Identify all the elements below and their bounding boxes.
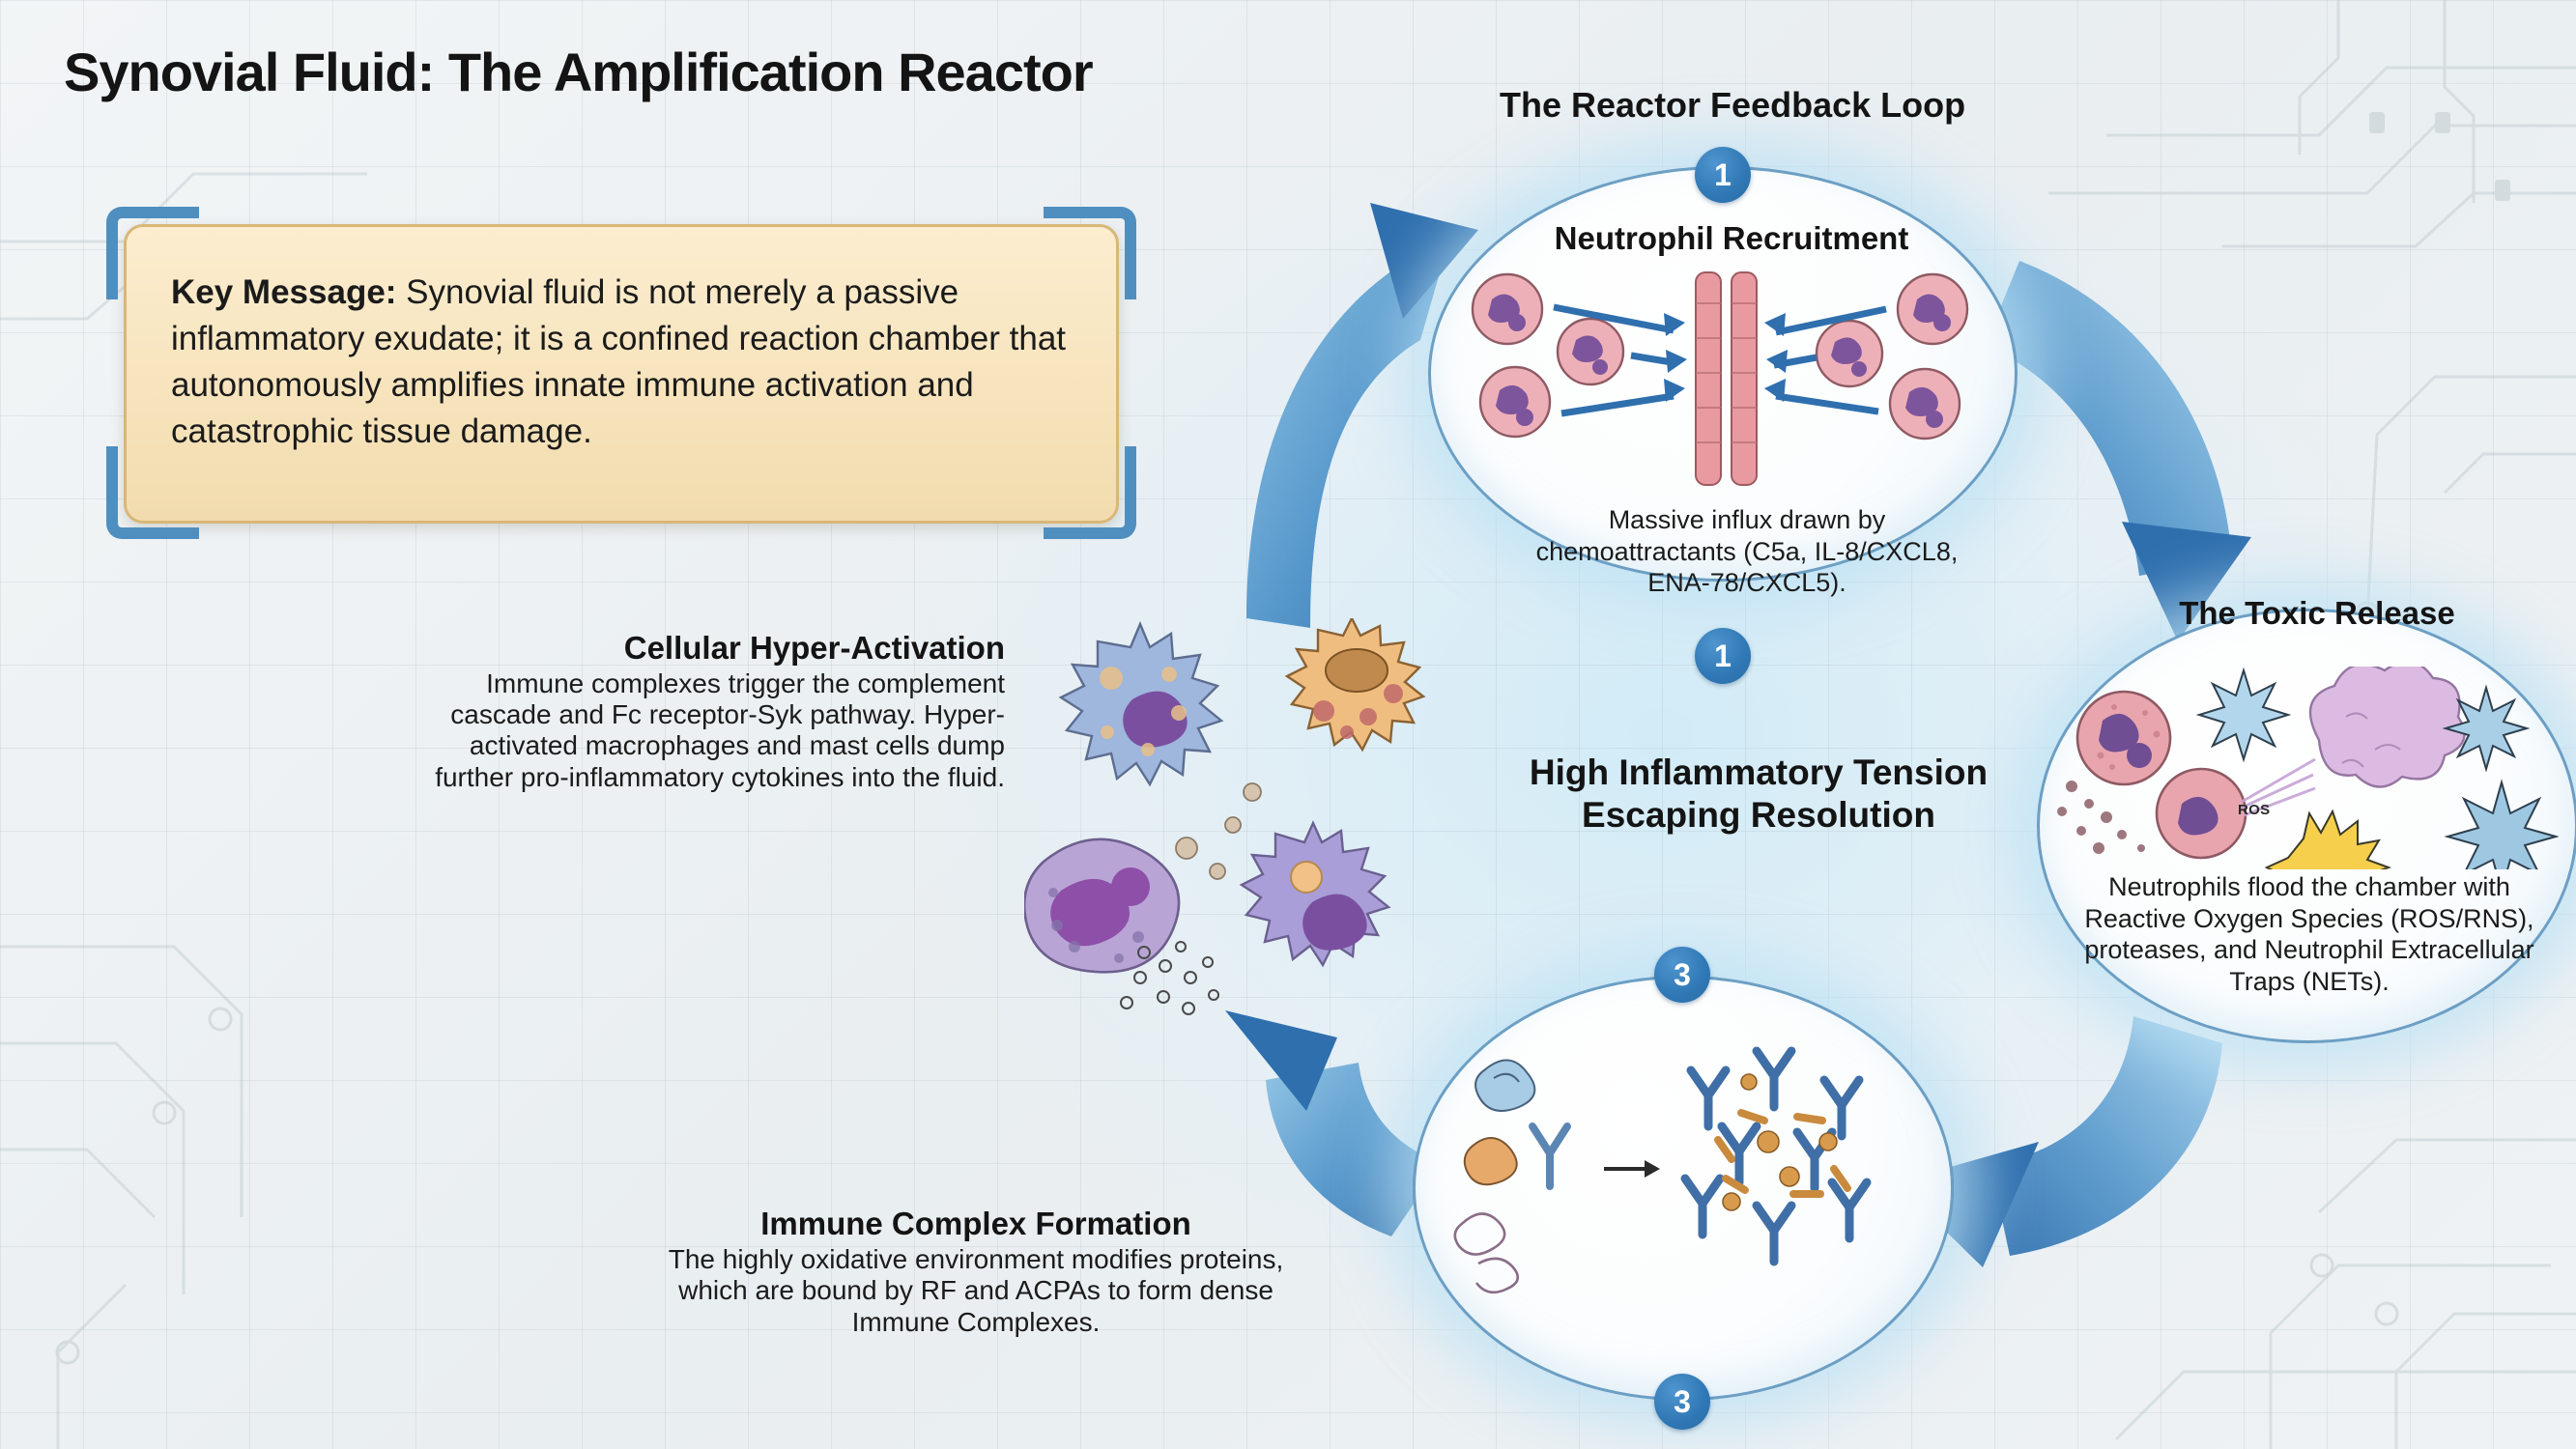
node-title-recruitment: Neutrophil Recruitment [1548,220,1915,257]
block-body-immune-complex: The highly oxidative environment modifie… [667,1244,1285,1338]
key-message-label: Key Message: [171,273,396,311]
center-statement: High Inflammatory Tension Escaping Resol… [1449,752,2068,838]
center-statement-line1: High Inflammatory Tension [1449,752,2068,794]
center-statement-line2: Escaping Resolution [1449,794,2068,837]
block-title-hyper-activation: Cellular Hyper-Activation [415,630,1005,667]
ros-label: ROS [2238,802,2270,818]
block-title-immune-complex: Immune Complex Formation [667,1206,1285,1242]
page-title: Synovial Fluid: The Amplification Reacto… [64,41,1093,103]
bracket-bottom-right-icon [1044,446,1136,539]
node-caption-toxic-release: Neutrophils flood the chamber with React… [2068,871,2551,998]
key-message-text: Key Message: Synovial fluid is not merel… [171,270,1072,455]
bracket-top-left-icon [106,207,199,299]
key-message-box: Key Message: Synovial fluid is not merel… [124,224,1119,524]
bracket-top-right-icon [1044,207,1136,299]
loop-section-title: The Reactor Feedback Loop [1500,85,1965,126]
badge-step-1-top: 1 [1695,147,1751,203]
badge-step-3-top: 3 [1654,947,1710,1003]
block-cellular-hyper-activation: Cellular Hyper-Activation Immune complex… [415,630,1005,793]
block-immune-complex-formation: Immune Complex Formation The highly oxid… [667,1206,1285,1338]
arrow-to-hyper-activation [1225,1010,1442,1236]
node-title-toxic-release: The Toxic Release [2153,595,2481,632]
badge-step-1-bottom: 1 [1695,628,1751,684]
node-immune-complex[interactable] [1413,976,1954,1401]
badge-step-3-bottom: 3 [1654,1374,1710,1430]
node-caption-recruitment: Massive influx drawn by chemoattractants… [1534,504,1960,599]
block-body-hyper-activation: Immune complexes trigger the complement … [415,668,1005,793]
arrow-to-toxic-release [1985,261,2251,641]
bracket-bottom-left-icon [106,446,199,539]
